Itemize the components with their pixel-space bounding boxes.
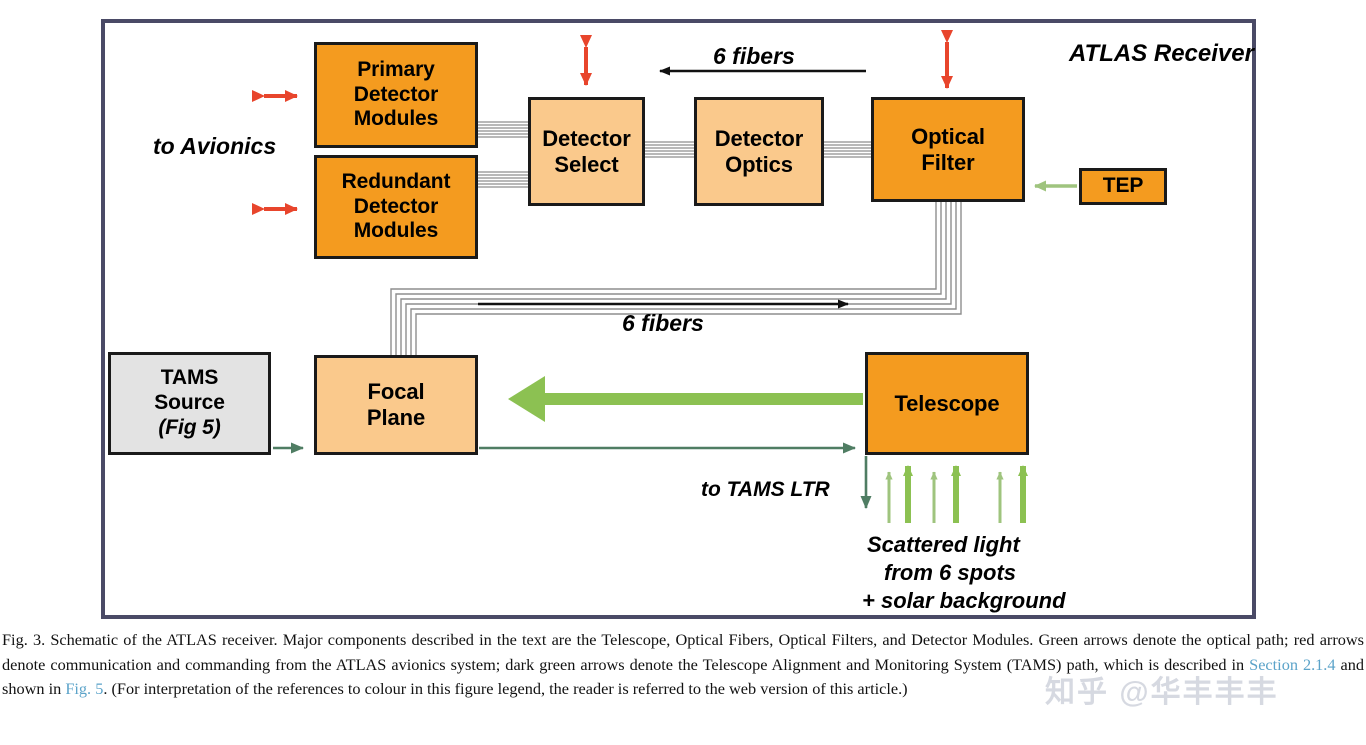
block-line: Filter	[874, 150, 1022, 176]
figure-root: Primary Detector Modules Redundant Detec…	[0, 0, 1366, 745]
caption-segment-3: . (For interpretation of the references …	[103, 679, 907, 698]
label-atlas-receiver: ATLAS Receiver	[1069, 40, 1254, 68]
caption-link-fig5[interactable]: Fig. 5	[65, 679, 103, 698]
label-to-tams-ltr: to TAMS LTR	[701, 478, 830, 502]
block-line: TAMS	[111, 366, 268, 391]
block-line: Detector	[697, 126, 821, 152]
block-line: Redundant	[317, 170, 475, 195]
block-line: Source	[111, 391, 268, 416]
label-scattered-light-line1: Scattered light	[867, 532, 1020, 558]
block-redundant-detector-modules[interactable]: Redundant Detector Modules	[314, 155, 478, 259]
caption-link-section-214[interactable]: Section 2.1.4	[1249, 655, 1335, 674]
block-line: Optical	[874, 124, 1022, 150]
block-line: Modules	[317, 219, 475, 244]
figure-caption: Fig. 3. Schematic of the ATLAS receiver.…	[2, 628, 1364, 702]
block-detector-optics[interactable]: Detector Optics	[694, 97, 824, 206]
block-line: Detector	[317, 195, 475, 220]
block-focal-plane[interactable]: Focal Plane	[314, 355, 478, 455]
block-line: Focal	[317, 379, 475, 405]
block-line: Detector	[317, 83, 475, 108]
block-tep[interactable]: TEP	[1079, 168, 1167, 205]
block-line: Optics	[697, 152, 821, 178]
block-line: Plane	[317, 405, 475, 431]
block-line: Select	[531, 152, 642, 178]
label-six-fibers-middle: 6 fibers	[622, 310, 704, 337]
label-six-fibers-top: 6 fibers	[713, 43, 795, 70]
block-line: (Fig 5)	[111, 416, 268, 441]
block-telescope[interactable]: Telescope	[865, 352, 1029, 455]
block-tams-source[interactable]: TAMS Source (Fig 5)	[108, 352, 271, 455]
label-scattered-light-line3: + solar background	[862, 588, 1066, 614]
label-scattered-light-line2: from 6 spots	[884, 560, 1016, 586]
block-line: Primary	[317, 58, 475, 83]
block-line: Modules	[317, 107, 475, 132]
caption-segment-1: Fig. 3. Schematic of the ATLAS receiver.…	[2, 630, 1364, 674]
block-optical-filter[interactable]: Optical Filter	[871, 97, 1025, 202]
block-line: Detector	[531, 126, 642, 152]
label-to-avionics: to Avionics	[153, 133, 276, 160]
block-line: Telescope	[868, 391, 1026, 417]
block-line: TEP	[1082, 174, 1164, 199]
block-detector-select[interactable]: Detector Select	[528, 97, 645, 206]
block-primary-detector-modules[interactable]: Primary Detector Modules	[314, 42, 478, 148]
